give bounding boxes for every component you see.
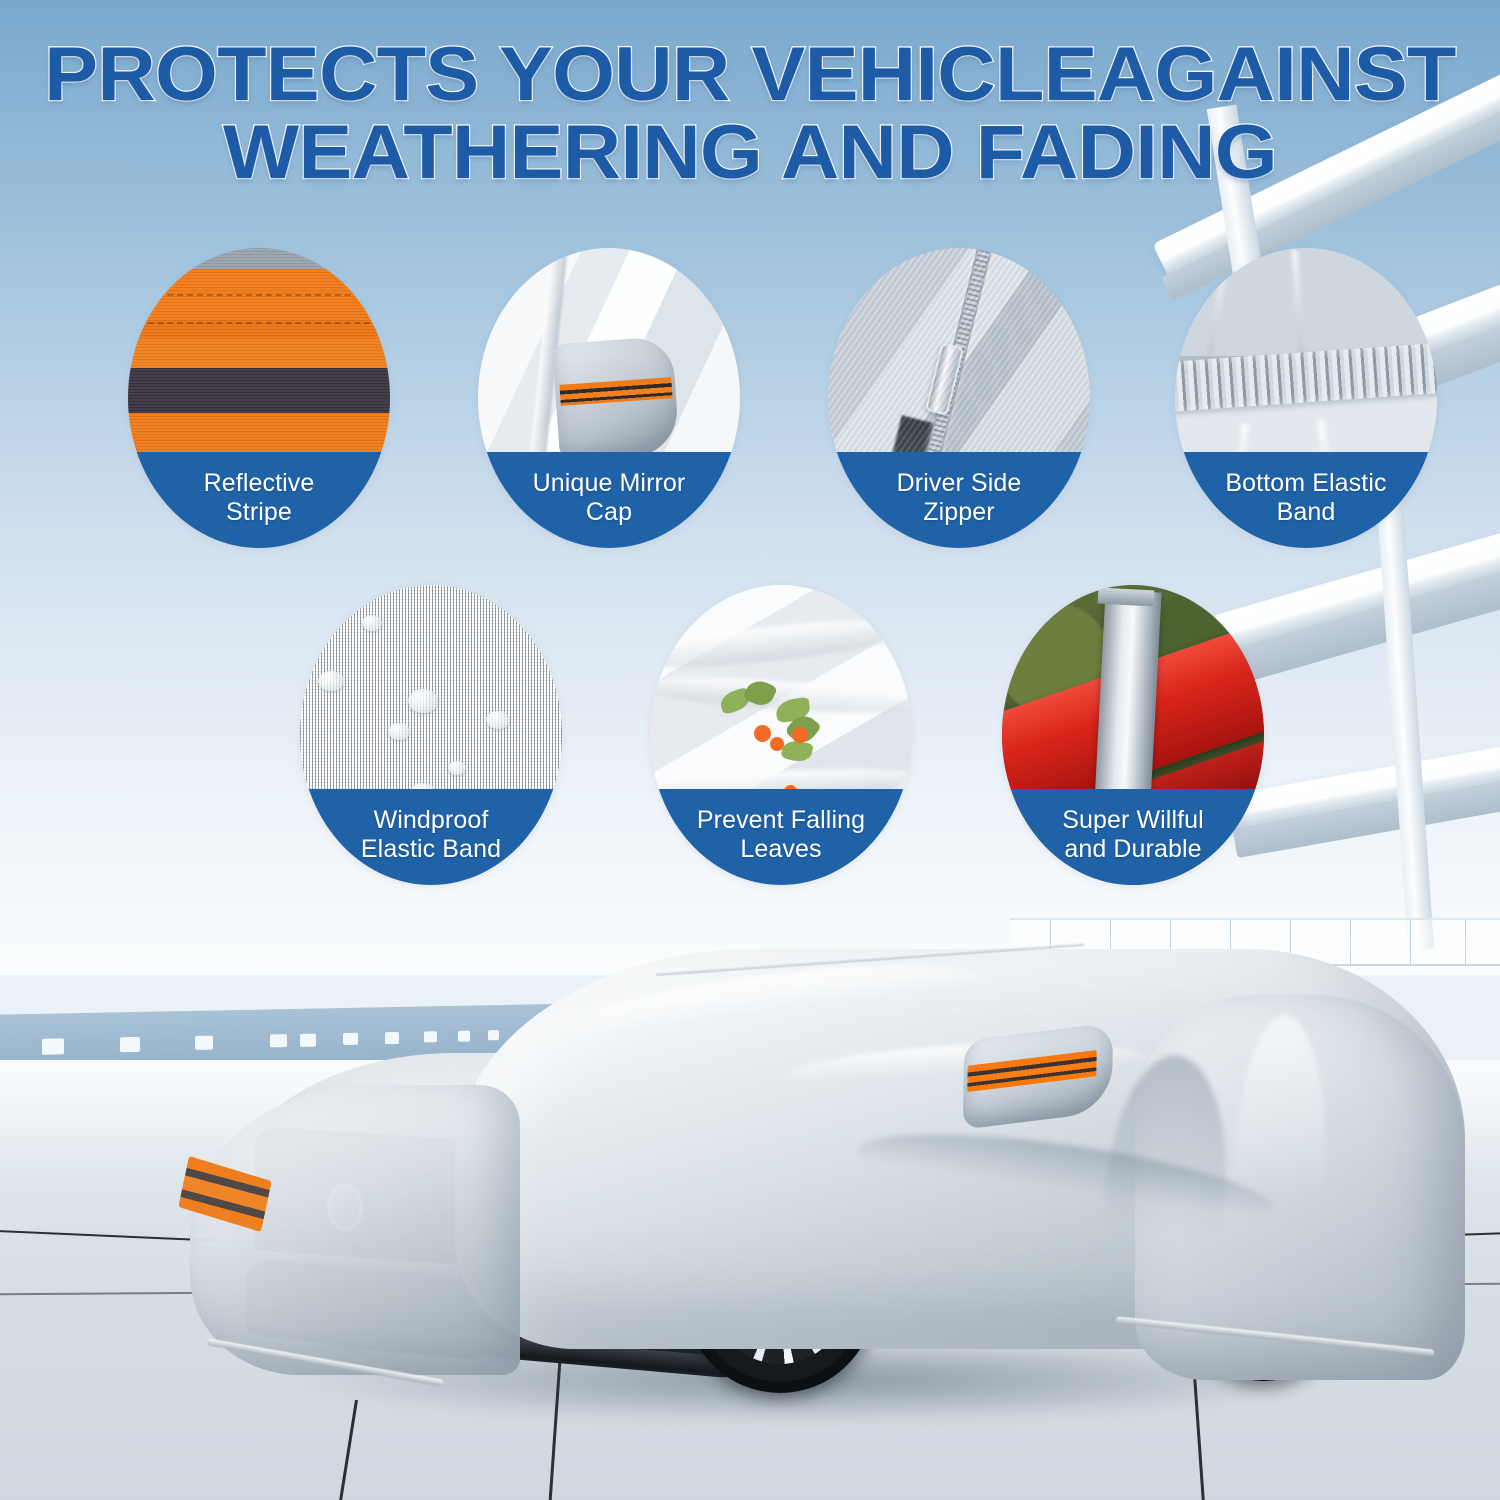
feature-label-banner: Driver Side Zipper	[828, 452, 1090, 548]
feature-super-willful-and-durable[interactable]: Super Willful and Durable	[1002, 585, 1264, 885]
feature-unique-mirror-cap[interactable]: Unique Mirror Cap	[478, 248, 740, 548]
feature-bottom-elastic-band[interactable]: Bottom Elastic Band	[1175, 248, 1437, 548]
feature-label-text: Windproof Elastic Band	[361, 806, 501, 864]
feature-image-disc: Super Willful and Durable	[1002, 585, 1264, 885]
feature-label-text: Driver Side Zipper	[897, 469, 1022, 527]
feature-windproof-elastic-band[interactable]: Windproof Elastic Band	[300, 585, 562, 885]
feature-label-banner: Windproof Elastic Band	[300, 789, 562, 885]
water-droplet	[448, 761, 466, 775]
water-droplet	[486, 711, 510, 729]
feature-label-banner: Reflective Stripe	[128, 452, 390, 548]
berry	[754, 725, 771, 742]
feature-image-disc: Unique Mirror Cap	[478, 248, 740, 548]
feature-image-disc: Driver Side Zipper	[828, 248, 1090, 548]
feature-reflective-stripe[interactable]: Reflective Stripe	[128, 248, 390, 548]
feature-image-disc: Prevent Falling Leaves	[650, 585, 912, 885]
feature-label-banner: Prevent Falling Leaves	[650, 789, 912, 885]
water-droplet	[362, 615, 382, 631]
feature-label-text: Reflective Stripe	[204, 469, 315, 527]
berry	[770, 737, 784, 751]
water-droplet	[388, 723, 410, 740]
page-title: PROTECTS YOUR VEHICLEAGAINST WEATHERING …	[0, 36, 1500, 193]
feature-driver-side-zipper[interactable]: Driver Side Zipper	[828, 248, 1090, 548]
feature-image-disc: Reflective Stripe	[128, 248, 390, 548]
feature-callouts: Reflective Stripe Unique Mirror Cap	[0, 0, 1500, 1500]
feature-label-banner: Bottom Elastic Band	[1175, 452, 1437, 548]
feature-image-disc: Bottom Elastic Band	[1175, 248, 1437, 548]
title-line-1: PROTECTS YOUR VEHICLEAGAINST	[0, 36, 1500, 114]
feature-label-text: Super Willful and Durable	[1062, 806, 1204, 864]
feature-label-text: Prevent Falling Leaves	[697, 806, 865, 864]
berry	[792, 727, 808, 743]
feature-prevent-falling-leaves[interactable]: Prevent Falling Leaves	[650, 585, 912, 885]
water-droplet	[318, 671, 344, 691]
feature-label-text: Bottom Elastic Band	[1225, 469, 1386, 527]
cover-fabric-strap-end	[1098, 588, 1155, 607]
feature-label-banner: Super Willful and Durable	[1002, 789, 1264, 885]
feature-label-banner: Unique Mirror Cap	[478, 452, 740, 548]
feature-label-text: Unique Mirror Cap	[533, 469, 686, 527]
water-droplet	[408, 689, 438, 713]
feature-image-disc: Windproof Elastic Band	[300, 585, 562, 885]
title-line-2: WEATHERING AND FADING	[0, 114, 1500, 192]
